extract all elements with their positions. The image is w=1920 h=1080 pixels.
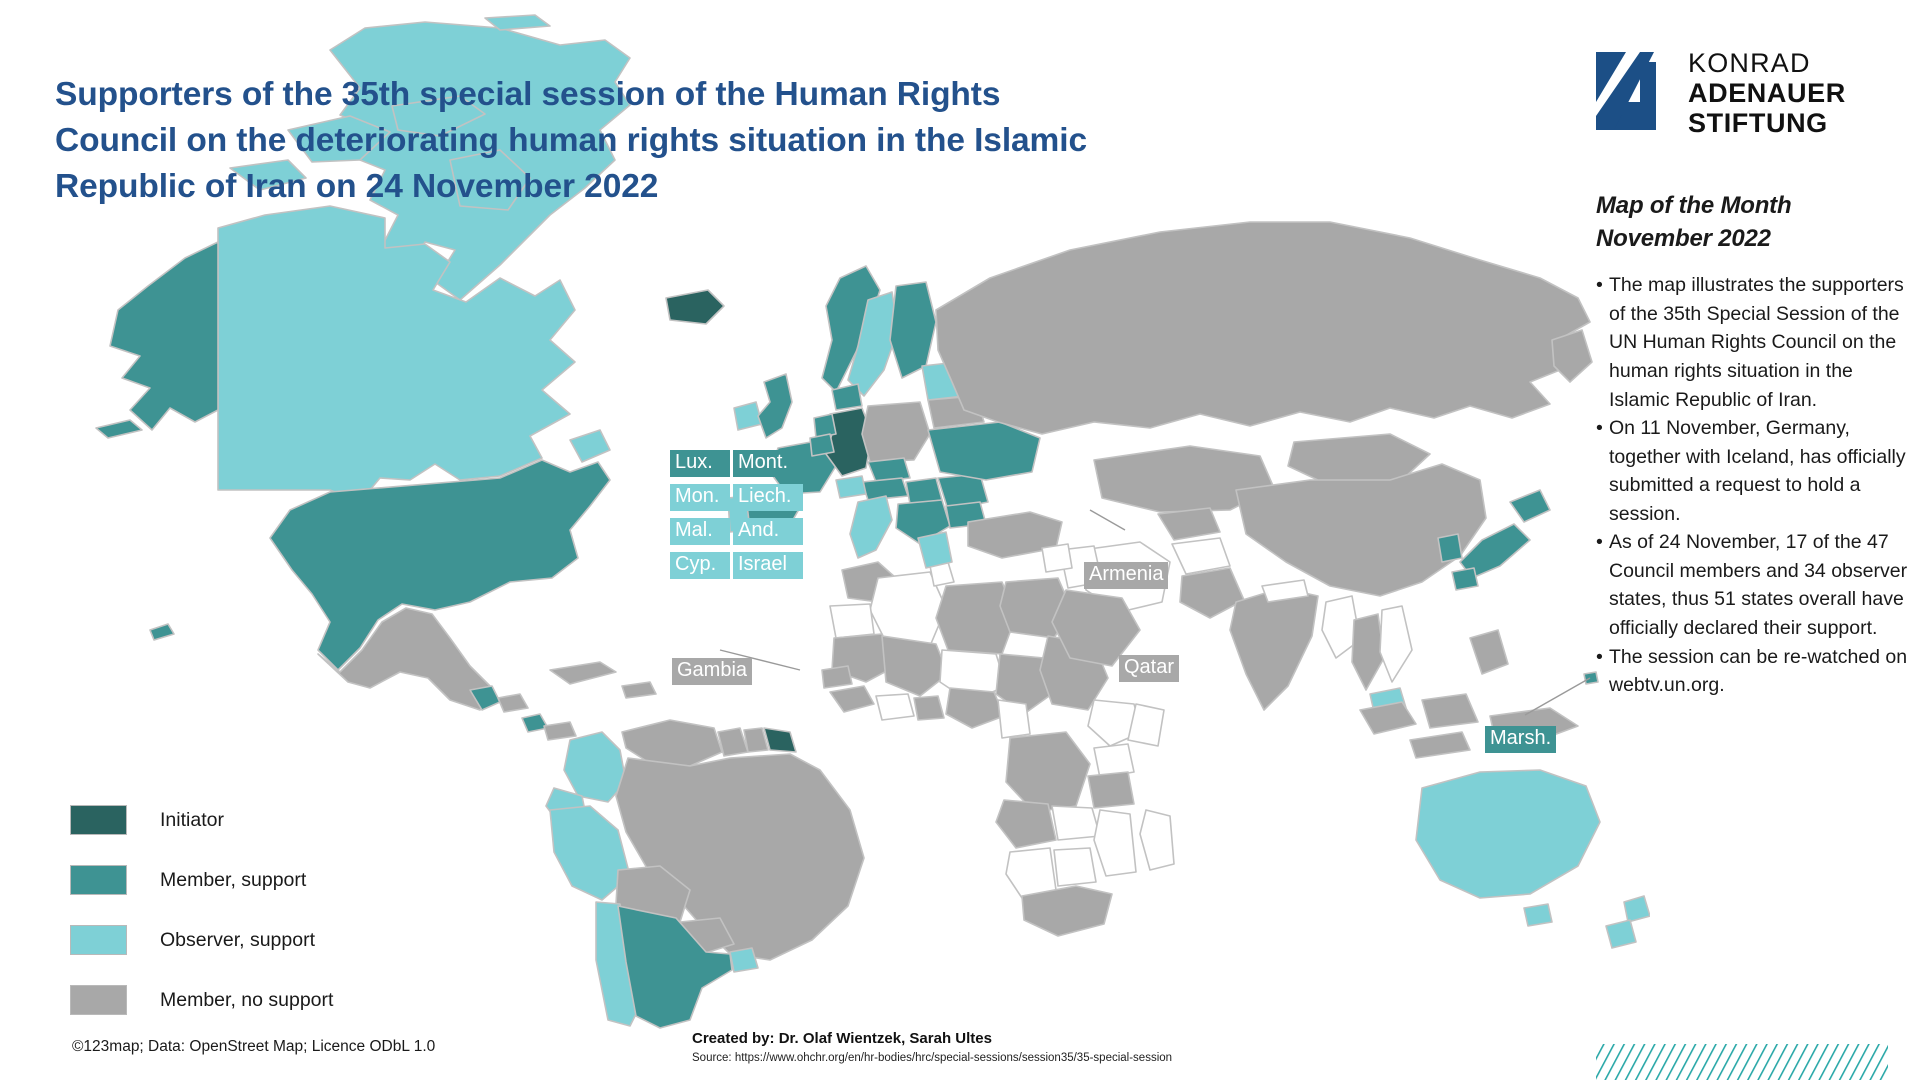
country-china	[1236, 464, 1486, 596]
country-nigeria	[946, 688, 1004, 728]
bullet-text: As of 24 November, 17 of the 47 Council …	[1609, 528, 1908, 642]
leader-line-qatar	[1090, 510, 1125, 530]
country-southkorea	[1438, 534, 1462, 562]
country-poland	[862, 402, 930, 462]
country-mali	[882, 636, 948, 696]
legend-label-initiator: Initiator	[160, 809, 224, 832]
kas-logo-line-3: STIFTUNG	[1688, 110, 1846, 137]
country-southafrica	[1022, 886, 1112, 936]
country-canada-newfoundland	[570, 430, 610, 462]
sidebar-heading: Map of the Month November 2022	[1596, 190, 1908, 255]
title-line-2: Council on the deteriorating human right…	[55, 118, 1305, 164]
credits-block: Created by: Dr. Olaf Wientzek, Sarah Ult…	[692, 1030, 1172, 1065]
country-japan-kyushu	[1452, 568, 1478, 590]
country-kamchatka	[1552, 330, 1592, 382]
map-label-marshall: Marsh.	[1485, 726, 1556, 753]
country-madagascar	[1140, 810, 1174, 870]
legend-swatch-member-no-support	[70, 985, 127, 1015]
country-uk	[758, 374, 792, 438]
country-iceland	[666, 290, 724, 324]
legend-label-member-support: Member, support	[160, 869, 306, 892]
country-vietnam	[1380, 606, 1412, 682]
country-ivorycoast	[876, 694, 914, 720]
country-finland	[890, 282, 936, 378]
sidebar: Map of the Month November 2022 • The map…	[1596, 190, 1908, 700]
country-indonesia-sumatra	[1360, 702, 1416, 734]
map-label-mon: Mon.	[670, 484, 730, 511]
sidebar-heading-line-1: Map of the Month	[1596, 192, 1791, 219]
map-label-qatar: Qatar	[1119, 655, 1179, 682]
country-philippines	[1470, 630, 1508, 674]
legend-label-member-no-support: Member, no support	[160, 989, 333, 1012]
country-japan	[1510, 490, 1550, 522]
decorative-hatch-pattern	[1596, 1038, 1888, 1080]
map-label-armenia: Armenia	[1084, 562, 1168, 589]
map-label-israel: Israel	[733, 552, 803, 579]
country-russia	[936, 222, 1590, 434]
country-cuba	[550, 662, 616, 684]
country-syria	[1042, 544, 1072, 572]
title-line-1: Supporters of the 35th special session o…	[55, 72, 1305, 118]
legend-swatch-observer-support	[70, 925, 127, 955]
legend-label-observer-support: Observer, support	[160, 929, 315, 952]
country-newzealand-n	[1624, 896, 1650, 922]
country-afghanistan	[1172, 538, 1230, 574]
country-alaska	[110, 242, 218, 430]
country-honduras	[498, 694, 528, 712]
bullet-marker-icon: •	[1596, 643, 1609, 700]
country-costarica	[522, 714, 548, 732]
sidebar-bullet-list: • The map illustrates the supporters of …	[1596, 271, 1908, 699]
legend-swatch-member-support	[70, 865, 127, 895]
source-text: Source: https://www.ohchr.org/en/hr-bodi…	[692, 1051, 1172, 1065]
country-uzbek	[1158, 508, 1220, 540]
bullet-text: On 11 November, Germany, together with I…	[1609, 414, 1908, 528]
bullet-marker-icon: •	[1596, 528, 1609, 642]
bullet-text: The session can be re-watched on webtv.u…	[1609, 643, 1908, 700]
kas-logo-line-1: KONRAD	[1688, 50, 1846, 77]
sidebar-heading-line-2: November 2022	[1596, 225, 1771, 252]
country-drc	[1006, 732, 1090, 812]
country-czech	[868, 458, 910, 482]
map-label-lux: Lux.	[670, 450, 730, 477]
country-guyana	[718, 728, 748, 756]
bullet-text: The map illustrates the supporters of th…	[1609, 271, 1908, 414]
created-by-text: Created by: Dr. Olaf Wientzek, Sarah Ult…	[692, 1030, 1172, 1049]
leader-line-marshall	[1525, 678, 1590, 715]
country-westsahara	[830, 604, 874, 638]
legend-item-member-support: Member, support	[70, 850, 333, 910]
map-label-mont: Mont.	[733, 450, 803, 477]
map-attribution: ©123map; Data: OpenStreet Map; Licence O…	[72, 1038, 435, 1056]
country-greece	[918, 532, 952, 568]
legend-item-initiator: Initiator	[70, 790, 333, 850]
country-angola	[996, 800, 1056, 848]
country-india	[1230, 588, 1318, 710]
map-label-gambia: Gambia	[672, 658, 752, 685]
country-australia	[1416, 770, 1600, 898]
legend-item-member-no-support: Member, no support	[70, 970, 333, 1030]
map-label-liech: Liech.	[733, 484, 803, 511]
country-switzerland	[836, 476, 866, 498]
country-tasmania	[1524, 904, 1552, 926]
legend-item-observer-support: Observer, support	[70, 910, 333, 970]
country-ukraine	[928, 422, 1040, 480]
map-label-cyp: Cyp.	[670, 552, 730, 579]
country-panama	[544, 722, 576, 740]
map-label-and: And.	[733, 518, 803, 545]
bullet-marker-icon: •	[1596, 414, 1609, 528]
country-zambia	[1052, 806, 1100, 840]
kas-logo-line-2: ADENAUER	[1688, 80, 1846, 107]
country-botswana	[1054, 848, 1096, 886]
country-newzealand-s	[1606, 920, 1636, 948]
list-item: • The map illustrates the supporters of …	[1596, 271, 1908, 414]
country-cameroon	[998, 700, 1030, 738]
page-title: Supporters of the 35th special session o…	[55, 72, 1305, 211]
legend-swatch-initiator	[70, 805, 127, 835]
country-belgium	[810, 434, 834, 456]
list-item: • As of 24 November, 17 of the 47 Counci…	[1596, 528, 1908, 642]
country-usa-hawaii	[150, 624, 174, 640]
list-item: • The session can be re-watched on webtv…	[1596, 643, 1908, 700]
country-uruguay	[730, 948, 758, 972]
kas-logo-mark-icon	[1596, 52, 1674, 130]
country-indonesia-borneo	[1422, 694, 1478, 728]
country-italy	[850, 496, 892, 558]
title-line-3: Republic of Iran on 24 November 2022	[55, 164, 1305, 210]
country-hispaniola	[622, 682, 656, 698]
list-item: • On 11 November, Germany, together with…	[1596, 414, 1908, 528]
country-guinea	[830, 686, 874, 712]
country-indonesia-java	[1410, 732, 1470, 758]
country-french-guiana	[764, 728, 796, 752]
map-label-mal: Mal.	[670, 518, 730, 545]
map-legend: Initiator Member, support Observer, supp…	[70, 790, 333, 1030]
country-mozambique	[1094, 810, 1136, 876]
country-senegal	[822, 666, 852, 688]
kas-logo: KONRAD ADENAUER STIFTUNG	[1596, 52, 1896, 130]
country-canada	[218, 206, 575, 502]
country-alaska-aleutians	[96, 420, 142, 438]
kas-logo-words: KONRAD ADENAUER STIFTUNG	[1688, 50, 1846, 137]
country-tanzania	[1088, 772, 1134, 808]
bullet-marker-icon: •	[1596, 271, 1609, 414]
country-ghana	[914, 696, 944, 720]
